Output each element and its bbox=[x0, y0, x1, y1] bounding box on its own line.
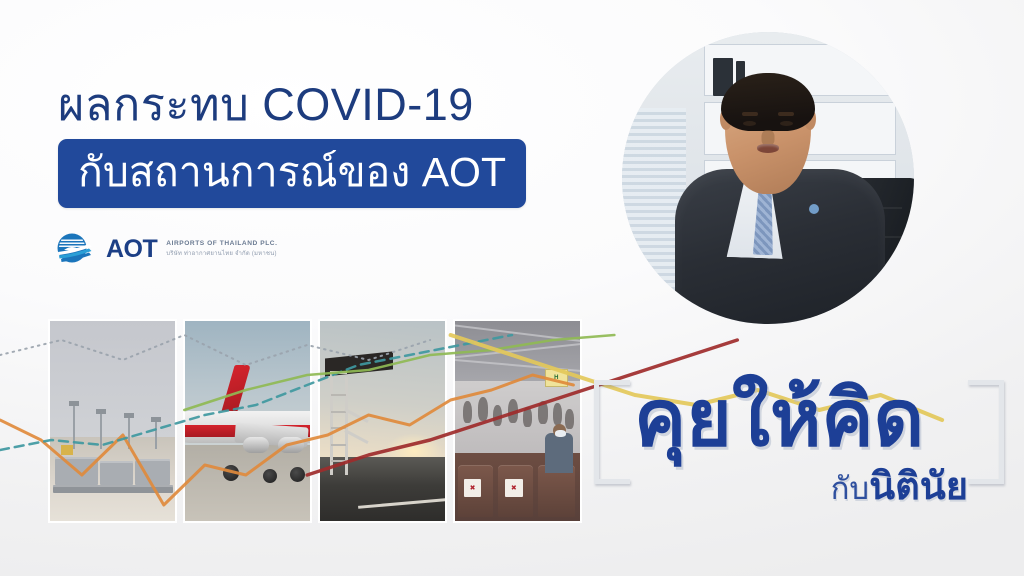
aot-name-en: AIRPORTS OF THAILAND PLC. bbox=[166, 240, 277, 248]
bracket-left-icon bbox=[594, 380, 630, 484]
show-title-block: คุยให้คิด กับนิตินัย bbox=[590, 372, 1010, 522]
aot-logo: AOT AIRPORTS OF THAILAND PLC. บริษัท ท่า… bbox=[55, 233, 277, 265]
photo-strip: H ✖ ✖ bbox=[50, 321, 572, 521]
aot-logo-text: AIRPORTS OF THAILAND PLC. บริษัท ท่าอากา… bbox=[166, 240, 277, 258]
photo-panel-aircraft bbox=[185, 321, 310, 521]
photo-panel-stairs bbox=[320, 321, 445, 521]
aot-wordmark: AOT bbox=[106, 237, 157, 262]
show-title-sub: กับนิตินัย bbox=[831, 464, 968, 512]
page-title-badge: กับสถานการณ์ของ AOT bbox=[58, 139, 526, 208]
terminal-sign-icon: H bbox=[545, 369, 568, 387]
bracket-right-icon bbox=[968, 380, 1004, 484]
distancing-x-marker: ✖ bbox=[464, 479, 482, 497]
photo-panel-terminal: H ✖ ✖ bbox=[455, 321, 580, 521]
portrait-photo bbox=[622, 32, 914, 324]
show-title-sub-lead: กับ bbox=[831, 471, 869, 506]
show-title-main: คุยให้คิด bbox=[634, 366, 924, 470]
distancing-x-marker: ✖ bbox=[505, 479, 523, 497]
aot-roundel-icon bbox=[55, 233, 97, 265]
photo-panel-apron bbox=[50, 321, 175, 521]
host-portrait bbox=[622, 32, 914, 324]
page-title-line1: ผลกระทบ COVID-19 bbox=[58, 78, 598, 132]
aot-name-th: บริษัท ท่าอากาศยานไทย จำกัด (มหาชน) bbox=[166, 250, 277, 258]
title-block: ผลกระทบ COVID-19 กับสถานการณ์ของ AOT bbox=[58, 78, 598, 208]
thumbnail-canvas: ผลกระทบ COVID-19 กับสถานการณ์ของ AOT AOT… bbox=[0, 0, 1024, 576]
show-title-sub-name: นิตินัย bbox=[869, 466, 968, 508]
